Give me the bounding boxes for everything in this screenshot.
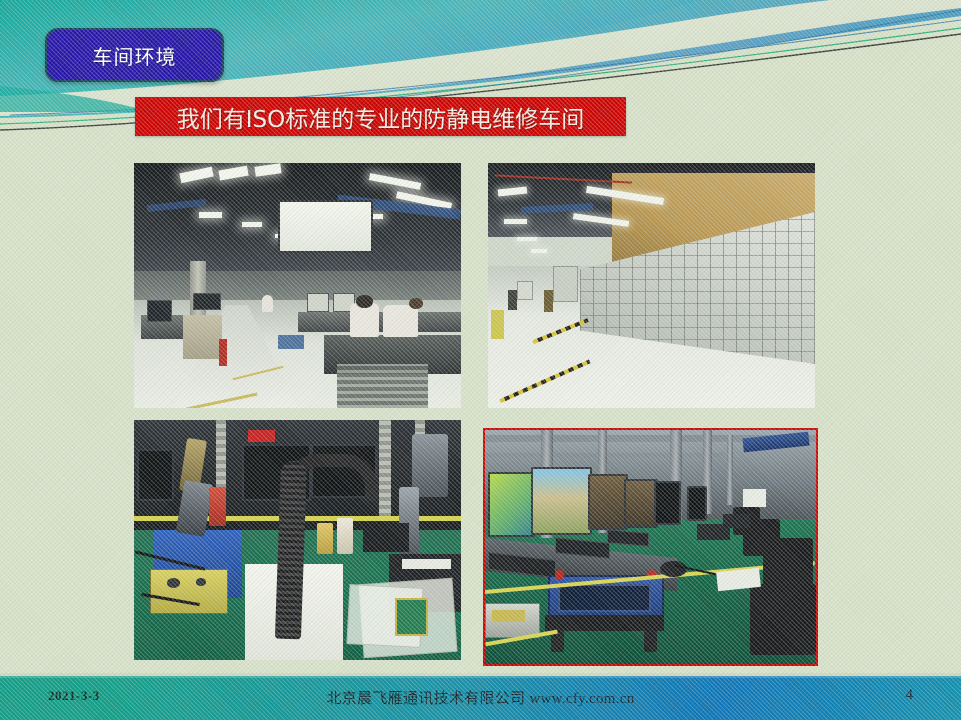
slide-footer: 2021-3-3 北京晨飞雁通讯技术有限公司 www.cfy.com.cn 4 — [0, 673, 961, 720]
section-title-badge[interactable]: 车间环境 — [45, 28, 224, 82]
headline-banner: 我们有ISO标准的专业的防静电维修车间 — [135, 97, 626, 136]
slide-canvas: 车间环境 我们有ISO标准的专业的防静电维修车间 — [0, 0, 961, 720]
photo-repair-bench[interactable]: 防静电维修工位，吸烟管、蓝色焊台、热风枪与绿色防静电台垫 — [134, 420, 461, 660]
photo-locker-corridor[interactable]: 长廊两侧整齐排列的灰色物料储物柜，地面有黄黑警示线 — [488, 163, 815, 408]
section-title-label: 车间环境 — [93, 41, 177, 70]
photo-workshop-hall[interactable]: 明亮的车间大厅，天花板照明与工作台，工人在流水线作业 — [134, 163, 461, 408]
photo-workstation-row[interactable]: 一排维修测试工位，显示器、键盘、夹具与绿色防静电地板 — [483, 428, 818, 666]
footer-page-number: 4 — [906, 687, 914, 704]
footer-divider — [0, 676, 961, 678]
footer-company: 北京晨飞雁通讯技术有限公司 www.cfy.com.cn — [0, 687, 961, 708]
headline-banner-label: 我们有ISO标准的专业的防静电维修车间 — [177, 100, 585, 134]
